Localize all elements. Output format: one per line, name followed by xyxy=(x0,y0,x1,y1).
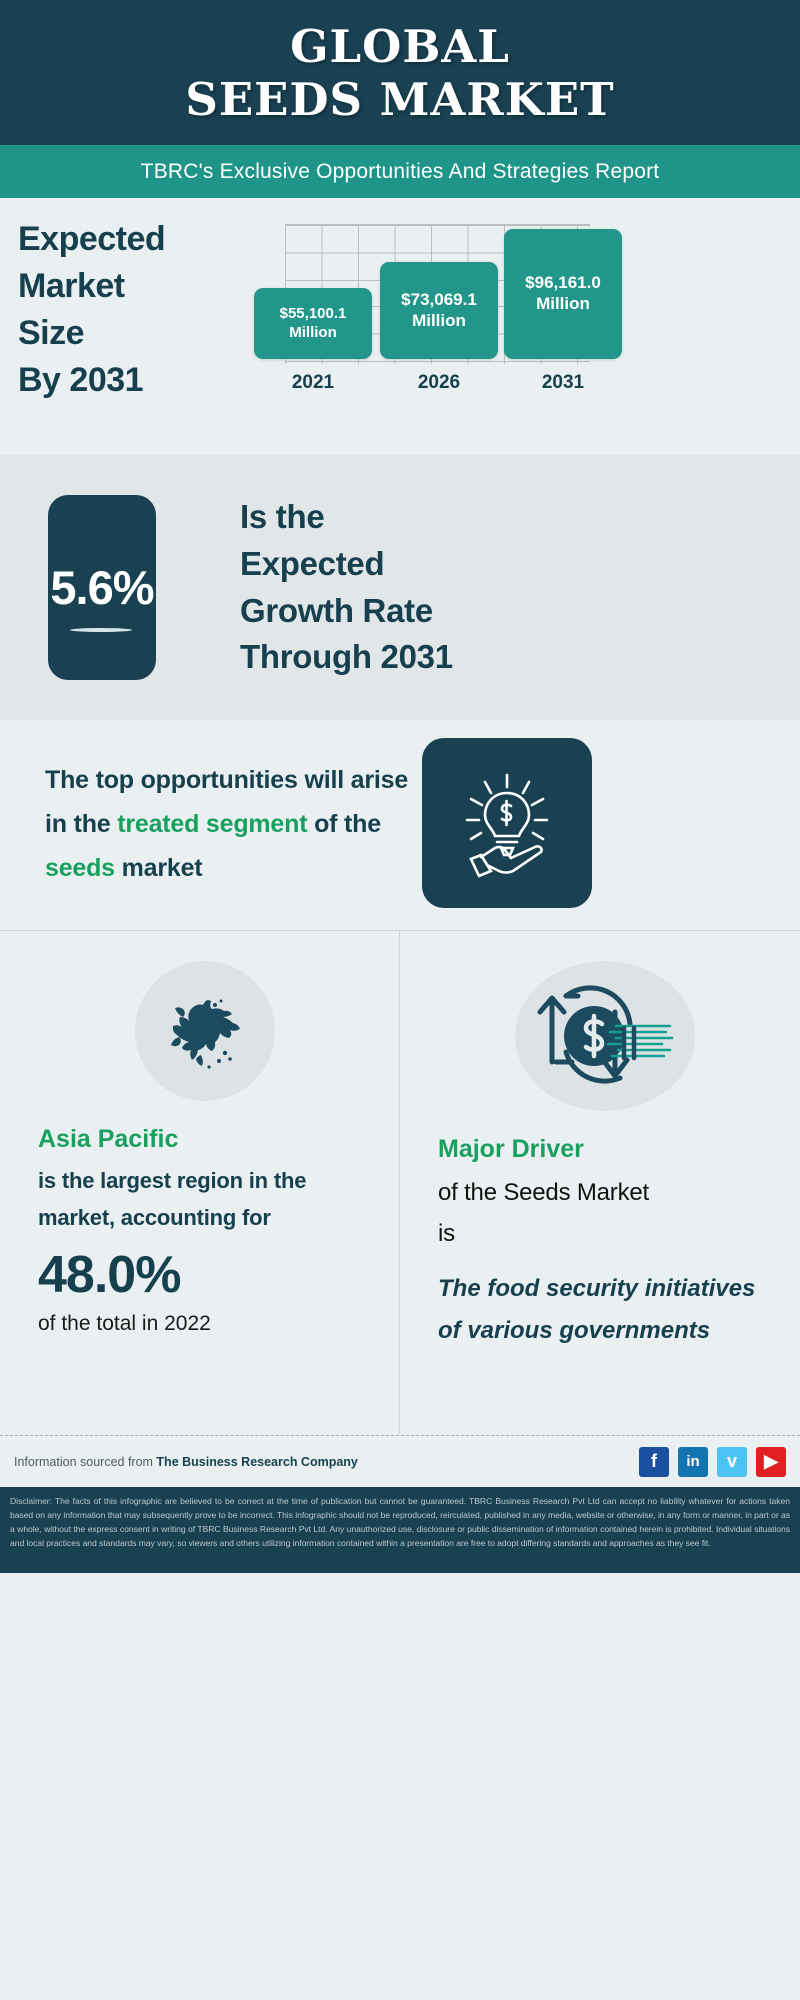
opportunity-section: The top opportunities will arise in the … xyxy=(0,720,800,930)
heading-line-3: Size xyxy=(18,310,165,357)
bar-2031: $96,161.0 Million xyxy=(504,229,622,359)
chart-bars: $55,100.1 Million $73,069.1 Million $96,… xyxy=(250,214,650,414)
region-body: is the largest region in the market, acc… xyxy=(38,1163,371,1237)
driver-line-1: of the Seeds Market xyxy=(438,1173,772,1214)
asia-map-icon xyxy=(135,961,275,1101)
bar-category-2026: 2026 xyxy=(380,372,498,394)
linkedin-icon[interactable]: in xyxy=(678,1447,708,1477)
growth-text-line-4: Through 2031 xyxy=(240,634,453,681)
source-bar: Information sourced from The Business Re… xyxy=(0,1435,800,1487)
growth-rate-section: 5.6% Is the Expected Growth Rate Through… xyxy=(0,455,800,720)
region-panel: Asia Pacific is the largest region in th… xyxy=(0,931,400,1435)
driver-lead: Major Driver xyxy=(438,1133,772,1167)
market-size-bar-chart: $55,100.1 Million $73,069.1 Million $96,… xyxy=(250,214,790,444)
page-title-line1: GLOBAL xyxy=(290,24,510,69)
growth-text-line-1: Is the xyxy=(240,494,453,541)
growth-text-line-2: Expected xyxy=(240,541,453,588)
growth-text-line-3: Growth Rate xyxy=(240,588,453,635)
facebook-icon[interactable]: f xyxy=(639,1447,669,1477)
youtube-icon[interactable]: ▶ xyxy=(756,1447,786,1477)
bar-category-2031: 2031 xyxy=(504,372,622,394)
bar-2021: $55,100.1 Million xyxy=(254,288,372,359)
social-links: f in ᴠ ▶ xyxy=(639,1447,786,1477)
bar-category-2021: 2021 xyxy=(254,372,372,394)
growth-rate-value: 5.6% xyxy=(50,560,153,615)
infographic-page: GLOBAL SEEDS MARKET TBRC's Exclusive Opp… xyxy=(0,0,800,2000)
bar-unit-2031: Million xyxy=(536,294,590,315)
growth-rate-text: Is the Expected Growth Rate Through 2031 xyxy=(240,494,453,681)
opportunity-part-2: of the xyxy=(307,810,381,838)
disclaimer-text: Disclaimer: The facts of this infographi… xyxy=(0,1487,800,1573)
bar-unit-2026: Million xyxy=(412,311,466,332)
driver-panel: Major Driver of the Seeds Market is The … xyxy=(400,931,800,1435)
underline-swoosh-icon xyxy=(70,628,132,632)
page-title-line2: SEEDS MARKET xyxy=(185,77,614,122)
heading-line-2: Market xyxy=(18,263,165,310)
opportunity-highlight-1: treated segment xyxy=(117,810,307,838)
lightbulb-dollar-in-hand-icon xyxy=(422,738,592,908)
bar-value-2031: $96,161.0 xyxy=(525,273,601,294)
header-banner: GLOBAL SEEDS MARKET xyxy=(0,0,800,145)
bar-value-2026: $73,069.1 xyxy=(401,290,477,311)
source-prefix: Information sourced from xyxy=(14,1455,156,1469)
driver-line-2: is xyxy=(438,1214,772,1255)
subtitle-bar: TBRC's Exclusive Opportunities And Strat… xyxy=(0,145,800,198)
market-size-heading: Expected Market Size By 2031 xyxy=(18,216,165,404)
bar-unit-2021: Million xyxy=(289,324,337,342)
bottom-panels: Asia Pacific is the largest region in th… xyxy=(0,930,800,1435)
growth-rate-badge: 5.6% xyxy=(48,495,156,680)
bar-value-2021: $55,100.1 xyxy=(280,305,347,323)
region-share-value: 48.0% xyxy=(38,1247,371,1304)
region-share-note: of the total in 2022 xyxy=(38,1310,371,1337)
driver-emphasis: The food security initiatives of various… xyxy=(438,1268,772,1351)
opportunity-text: The top opportunities will arise in the … xyxy=(45,759,415,890)
bar-2026: $73,069.1 Million xyxy=(380,262,498,359)
opportunity-part-3: market xyxy=(115,854,203,882)
region-lead: Asia Pacific xyxy=(38,1123,371,1157)
heading-line-4: By 2031 xyxy=(18,357,165,404)
dollar-exchange-arrows-icon xyxy=(515,961,695,1111)
source-text: Information sourced from The Business Re… xyxy=(14,1455,358,1469)
heading-line-1: Expected xyxy=(18,216,165,263)
source-company: The Business Research Company xyxy=(156,1455,357,1469)
subtitle-text: TBRC's Exclusive Opportunities And Strat… xyxy=(141,160,660,184)
twitter-icon[interactable]: ᴠ xyxy=(717,1447,747,1477)
opportunity-highlight-2: seeds xyxy=(45,854,115,882)
market-size-section: Expected Market Size By 2031 $55,100.1 M… xyxy=(0,198,800,455)
